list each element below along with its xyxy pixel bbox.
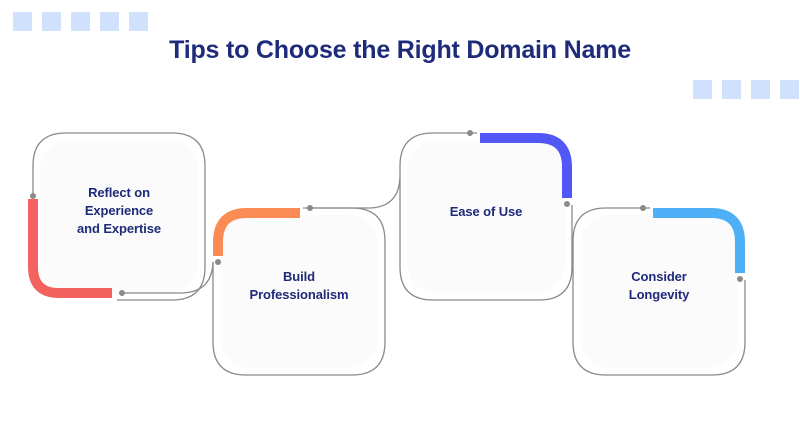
connector-dot bbox=[215, 259, 221, 265]
connector-line-2-to-3 bbox=[313, 177, 400, 208]
connector-dot bbox=[119, 290, 125, 296]
card-label-build-professionalism: Build Professionalism bbox=[213, 268, 385, 304]
connector-dot bbox=[307, 205, 313, 211]
infographic-canvas: Tips to Choose the Right Domain Name bbox=[0, 0, 800, 445]
connector-spacer-3-to-4 bbox=[578, 177, 665, 208]
connector-dot bbox=[640, 205, 646, 211]
card-label-consider-longevity: Consider Longevity bbox=[573, 268, 745, 304]
card-label-ease-of-use: Ease of Use bbox=[400, 203, 572, 221]
card-label-reflect-on-experience-and-expertise: Reflect on Experience and Expertise bbox=[33, 184, 205, 238]
connector-dot bbox=[467, 130, 473, 136]
